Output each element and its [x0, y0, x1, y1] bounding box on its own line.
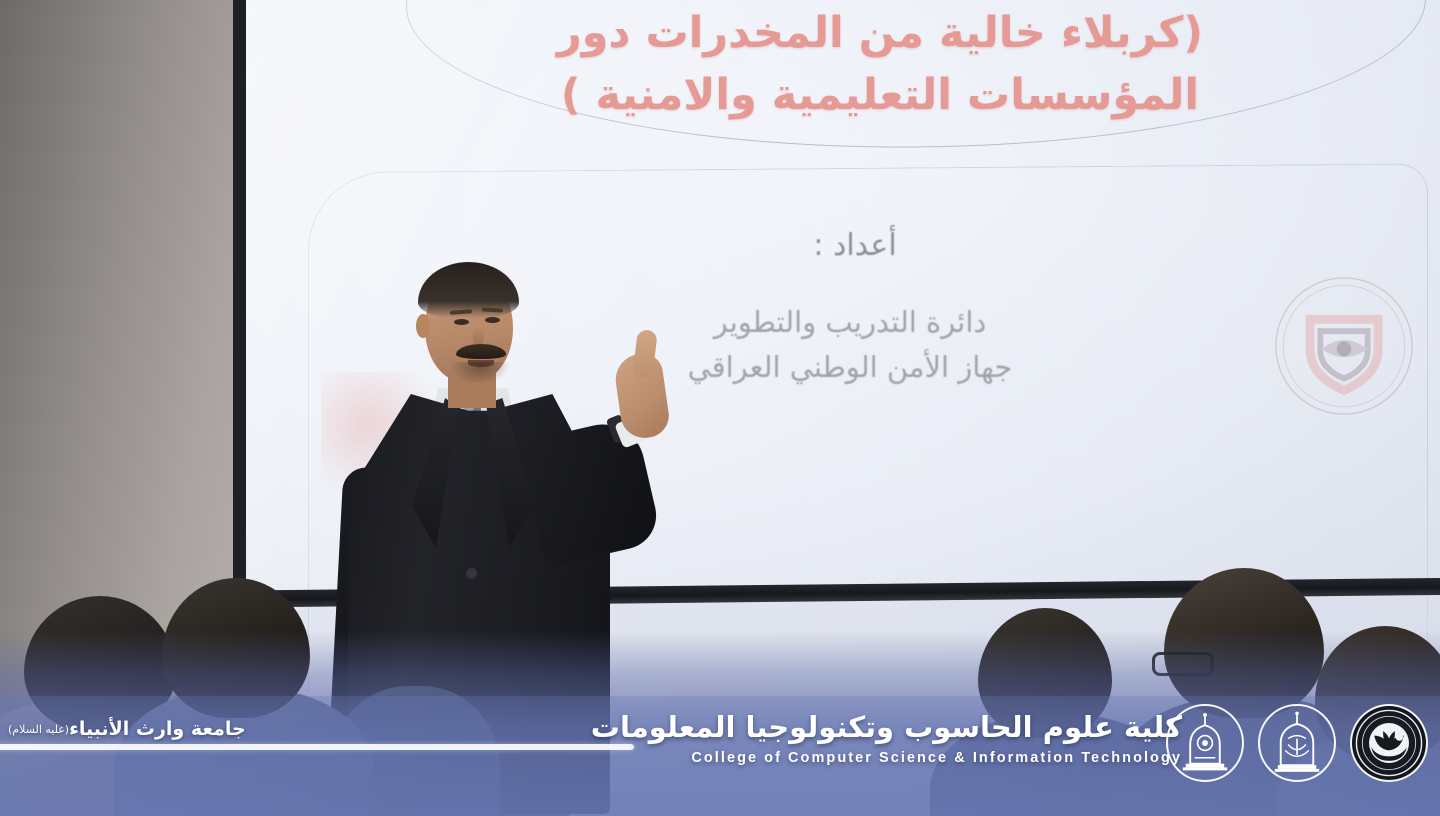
slide-body-line-1: دائرة التدريب والتطوير: [580, 300, 1120, 345]
presenter-nose: [473, 326, 484, 346]
slide-prepared-label: أعداد :: [725, 228, 985, 263]
warith-al-anbiyaa-university-logo-1: [1166, 704, 1244, 782]
college-name-english: College of Computer Science & Informatio…: [591, 750, 1182, 766]
slide-title: (كربلاء خالية من المخدرات دور المؤسسات ا…: [510, 2, 1250, 127]
college-name-arabic: كلية علوم الحاسوب وتكنولوجيا المعلومات: [591, 709, 1182, 745]
eyeglasses-icon: [1152, 652, 1214, 676]
presenter-moustache: [456, 344, 506, 359]
presenter-eye-left: [454, 319, 469, 325]
university-watermark-text: جامعة وارث الأنبياء: [69, 718, 246, 740]
college-branding: كلية علوم الحاسوب وتكنولوجيا المعلومات C…: [591, 709, 1182, 766]
university-watermark-suffix: (عليه السلام): [8, 723, 69, 736]
warith-al-anbiyaa-university-logo-2: [1258, 704, 1336, 782]
presenter-eye-right: [485, 317, 500, 323]
banner-divider-line: [0, 744, 634, 750]
ministry-of-higher-education-iraq-logo: [1350, 704, 1428, 782]
presenter-ear: [416, 314, 430, 338]
slide-title-line-1: (كربلاء خالية من المخدرات دور: [510, 2, 1250, 64]
slide-title-line-2: المؤسسات التعليمية والامنية ): [510, 64, 1250, 126]
logo-row: [1166, 704, 1428, 782]
lecture-photo: (كربلاء خالية من المخدرات دور المؤسسات ا…: [0, 0, 1440, 816]
iraqi-national-security-service-logo: [1270, 272, 1418, 420]
university-watermark: جامعة وارث الأنبياء(عليه السلام): [8, 718, 246, 740]
presenter-beard-shadow: [450, 362, 510, 384]
audience-member-left-2: [132, 566, 352, 816]
audience-head: [162, 578, 310, 718]
presenter-jacket-button: [466, 568, 477, 579]
